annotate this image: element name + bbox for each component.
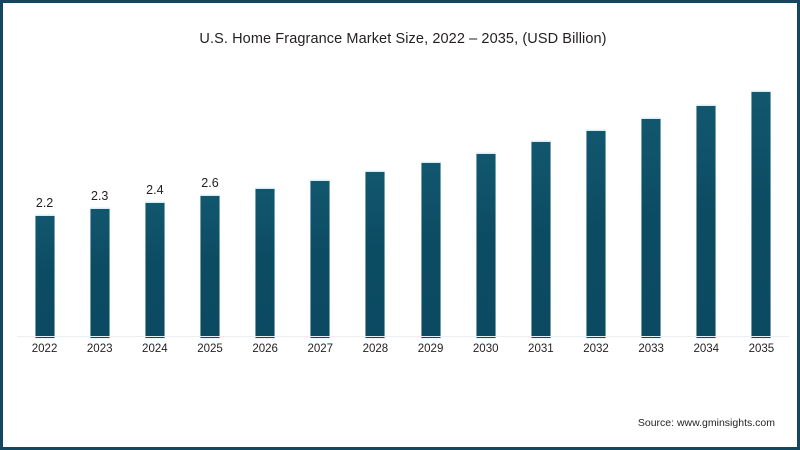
bar-2030[interactable] — [476, 153, 495, 338]
x-tick-2028: 2028 — [348, 343, 403, 355]
x-tick-2033: 2033 — [624, 343, 679, 355]
bar-slot: 2.2 — [17, 63, 72, 338]
x-tick-2034: 2034 — [679, 343, 734, 355]
bar-2025[interactable] — [200, 195, 219, 338]
bar-2035[interactable] — [752, 91, 771, 338]
bar-slot — [568, 63, 623, 338]
x-tick-2027: 2027 — [293, 343, 348, 355]
bar-value-label: 2.4 — [146, 183, 163, 197]
x-tick-2024: 2024 — [127, 343, 182, 355]
chart-card: U.S. Home Fragrance Market Size, 2022 – … — [0, 0, 800, 450]
bar-slot: 2.3 — [72, 63, 127, 338]
bar-slot — [238, 63, 293, 338]
bar-2029[interactable] — [421, 162, 440, 338]
x-tick-2031: 2031 — [513, 343, 568, 355]
x-tick-2029: 2029 — [403, 343, 458, 355]
x-tick-2022: 2022 — [17, 343, 72, 355]
bar-slot — [293, 63, 348, 338]
x-axis-line — [17, 336, 789, 337]
bar-2027[interactable] — [311, 180, 330, 338]
bar-2023[interactable] — [90, 208, 109, 338]
bar-slot: 2.4 — [127, 63, 182, 338]
x-tick-2035: 2035 — [734, 343, 789, 355]
x-tick-2032: 2032 — [568, 343, 623, 355]
x-tick-2025: 2025 — [182, 343, 237, 355]
bar-value-label: 2.6 — [201, 176, 218, 190]
plot-area: 2.22.32.42.6 — [17, 63, 789, 338]
bar-2024[interactable] — [145, 202, 164, 338]
x-tick-2023: 2023 — [72, 343, 127, 355]
source-note: Source: www.gminsights.com — [638, 417, 775, 429]
bar-2031[interactable] — [531, 141, 550, 338]
x-tick-2030: 2030 — [458, 343, 513, 355]
bar-slot — [348, 63, 403, 338]
bar-2022[interactable] — [35, 215, 54, 338]
bar-2032[interactable] — [586, 130, 605, 338]
bar-2026[interactable] — [256, 188, 275, 338]
bar-2033[interactable] — [642, 118, 661, 338]
bar-slot — [458, 63, 513, 338]
bar-slot — [734, 63, 789, 338]
bar-2034[interactable] — [697, 105, 716, 338]
bar-2028[interactable] — [366, 171, 385, 338]
bar-value-label: 2.3 — [91, 189, 108, 203]
bar-slot: 2.6 — [182, 63, 237, 338]
x-tick-2026: 2026 — [238, 343, 293, 355]
bar-value-label: 2.2 — [36, 196, 53, 210]
bar-slot — [403, 63, 458, 338]
bar-slot — [513, 63, 568, 338]
bar-slot — [679, 63, 734, 338]
chart-title: U.S. Home Fragrance Market Size, 2022 – … — [3, 31, 800, 47]
bar-slot — [624, 63, 679, 338]
